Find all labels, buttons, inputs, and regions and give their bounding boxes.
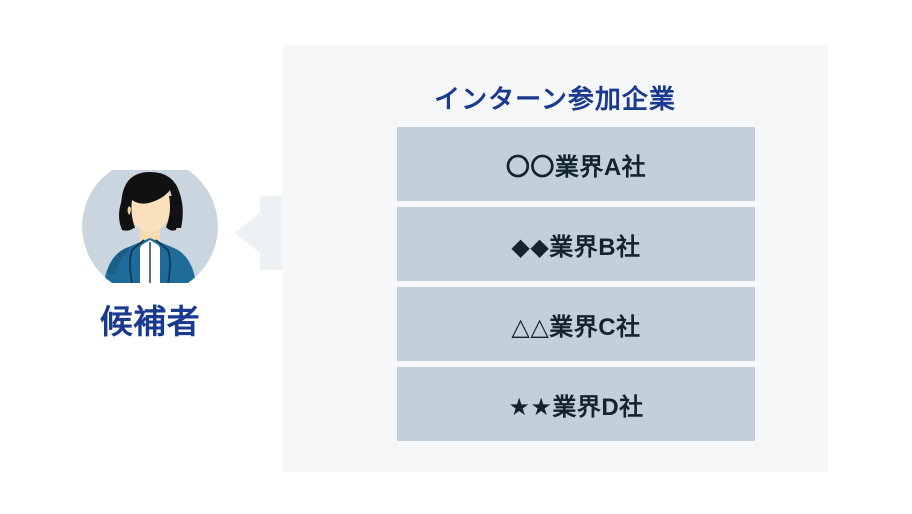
- company-name: ◆◆業界B社: [511, 227, 640, 262]
- left-pointing-arrow-icon: [234, 196, 286, 270]
- panel-title: インターン参加企業: [282, 79, 828, 116]
- candidate-block: 候補者: [82, 170, 218, 283]
- company-row-1[interactable]: 〇〇業界A社: [397, 127, 755, 201]
- company-name: ★★業界D社: [508, 387, 643, 422]
- company-name: 〇〇業界A社: [506, 147, 646, 182]
- person-avatar-icon: [82, 170, 218, 283]
- intern-companies-panel: インターン参加企業 〇〇業界A社 ◆◆業界B社 △△業界C社 ★★業界D社: [282, 45, 828, 472]
- company-row-4[interactable]: ★★業界D社: [397, 367, 755, 441]
- avatar: [82, 170, 218, 283]
- company-name: △△業界C社: [511, 307, 640, 342]
- company-row-2[interactable]: ◆◆業界B社: [397, 207, 755, 281]
- company-row-3[interactable]: △△業界C社: [397, 287, 755, 361]
- candidate-label: 候補者: [62, 295, 238, 343]
- company-list: 〇〇業界A社 ◆◆業界B社 △△業界C社 ★★業界D社: [397, 127, 755, 441]
- diagram-canvas: 候補者 インターン参加企業 〇〇業界A社 ◆◆業界B社 △△業界C社 ★★業界D…: [0, 0, 912, 514]
